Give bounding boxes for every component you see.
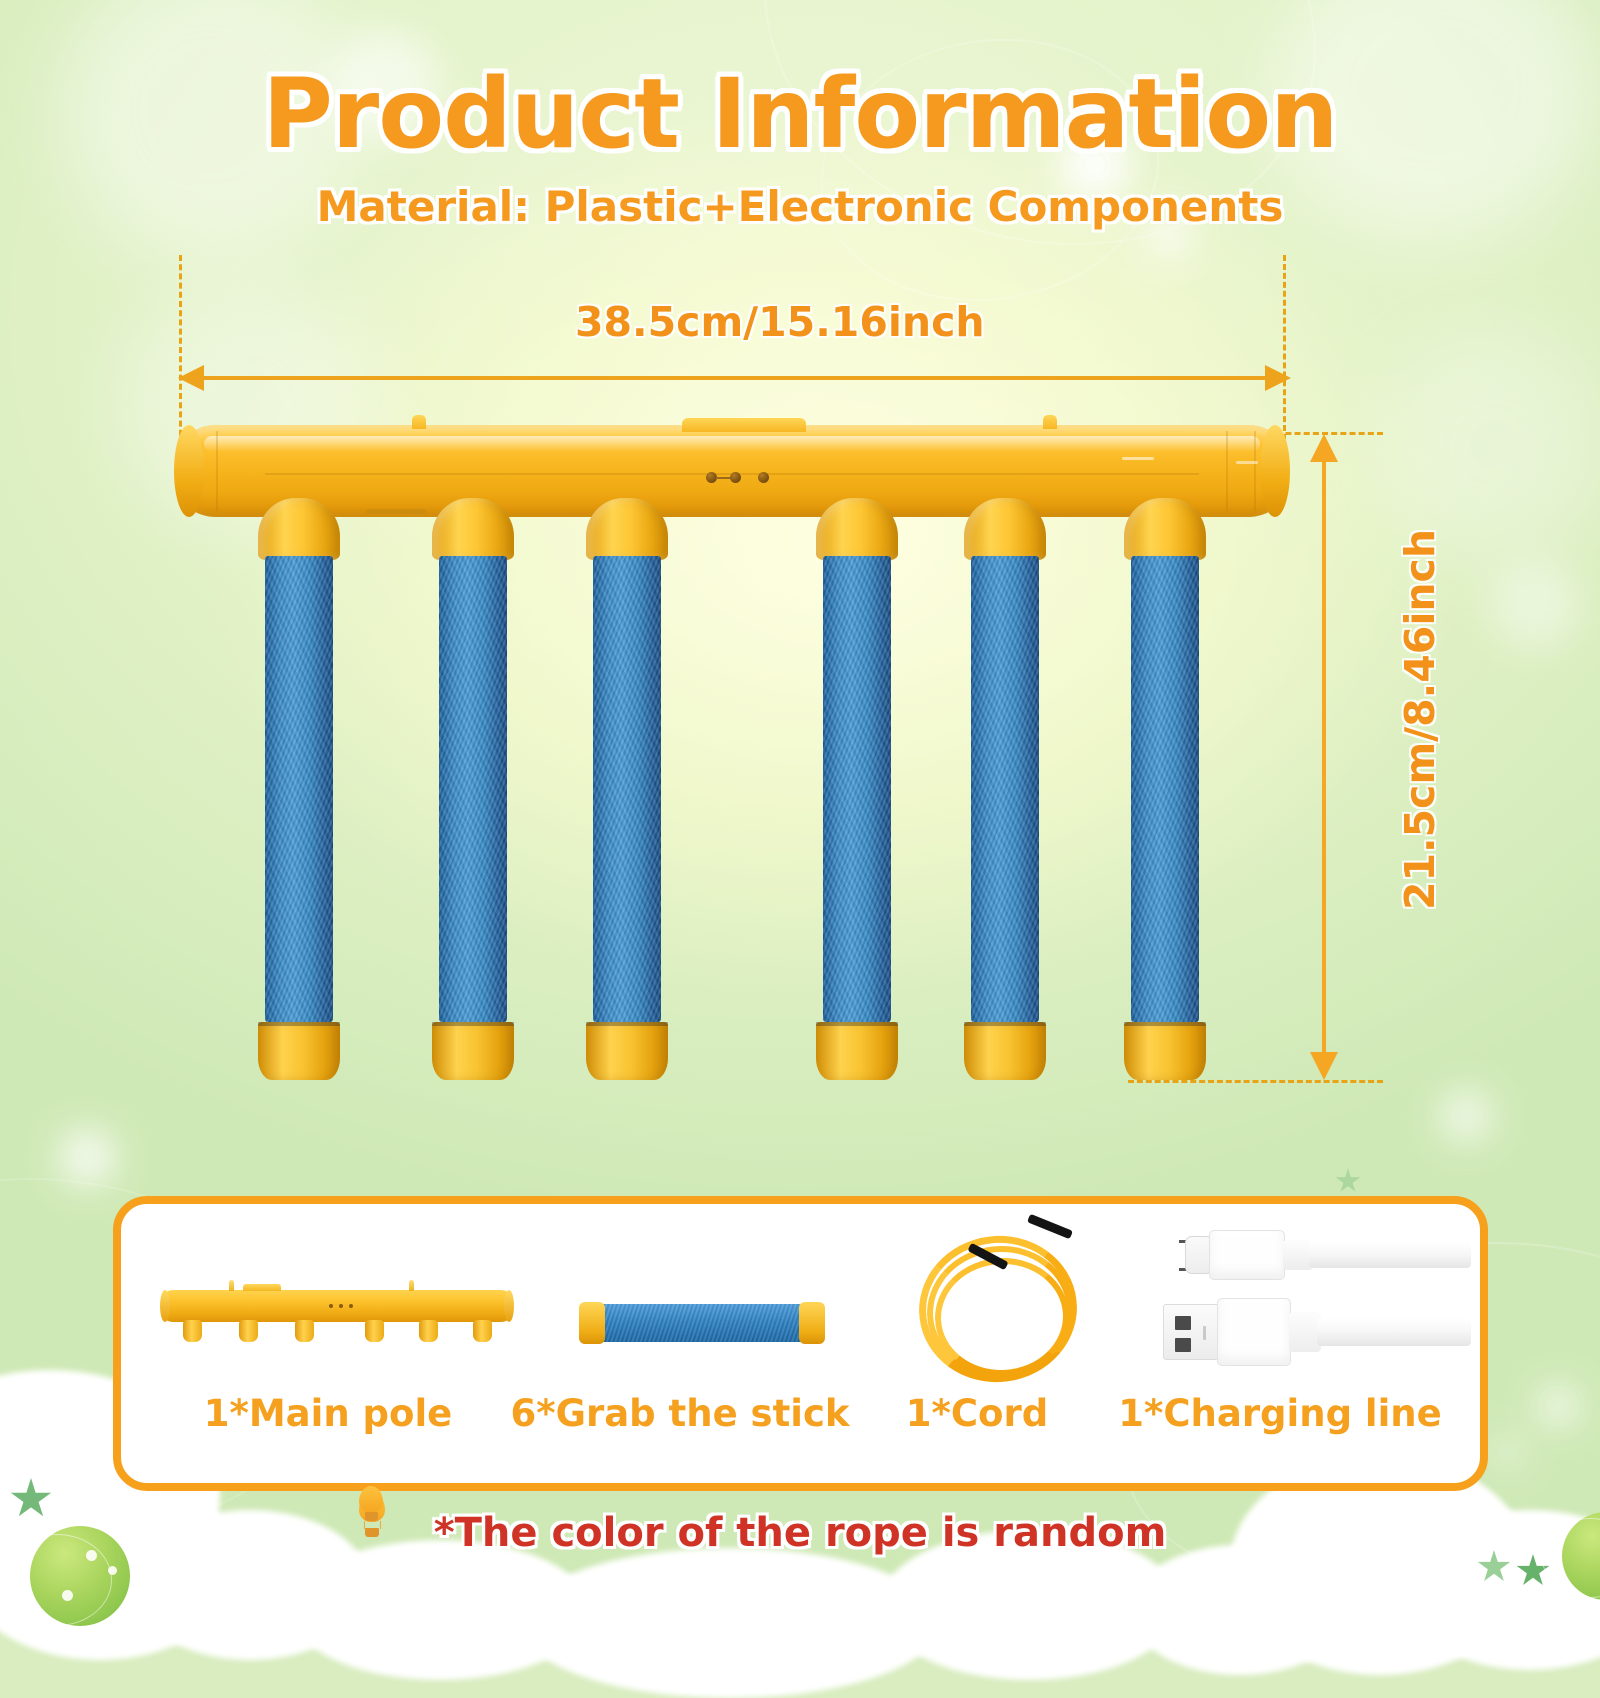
package-item-main-pole (151, 1254, 511, 1374)
pole-slot (1236, 461, 1258, 464)
stick-foam-body (265, 556, 333, 1022)
package-item-label: 1*Cord (906, 1392, 1048, 1435)
pole-highlight (204, 436, 1260, 452)
height-measure-line (1322, 446, 1326, 1068)
product-photo (0, 0, 1600, 1160)
pole-peak (412, 415, 426, 429)
arrow-up-icon (1310, 434, 1338, 462)
cloud-shape (1130, 1545, 1350, 1675)
stick-top-cap (258, 498, 340, 560)
pole-slot (1122, 457, 1154, 460)
package-item-label: 1*Main pole (204, 1392, 452, 1435)
grab-stick (258, 498, 340, 1080)
pole-socket (419, 1320, 438, 1342)
package-contents-panel (113, 1196, 1488, 1491)
width-measure-line (190, 376, 1283, 380)
grab-stick (432, 498, 514, 1080)
arrow-right-icon (1265, 365, 1291, 391)
pole-center-plate (682, 418, 806, 432)
cloud-shape (520, 1548, 940, 1698)
package-item-charging-line (1141, 1212, 1471, 1392)
package-item-cord (881, 1214, 1111, 1394)
pole-seam (1254, 431, 1256, 511)
package-item-label: 6*Grab the stick (511, 1392, 850, 1435)
arrow-down-icon (1310, 1052, 1338, 1080)
pole-socket (473, 1320, 492, 1342)
footer-note: *The color of the rope is random (0, 1510, 1600, 1556)
pole-socket (295, 1320, 314, 1342)
pole-socket (183, 1320, 202, 1342)
pole-end-cap-left (174, 425, 204, 517)
main-pole-body (176, 425, 1288, 517)
pole-socket (239, 1320, 258, 1342)
height-dimension-label: 21.5cm/8.46inch (1396, 529, 1444, 910)
stick-bottom-cap (258, 1022, 340, 1080)
width-dimension-label: 38.5cm/15.16inch (575, 298, 985, 346)
grab-stick (964, 498, 1046, 1080)
package-item-grab-stick (571, 1264, 836, 1354)
arrow-left-icon (178, 365, 204, 391)
package-item-label: 1*Charging line (1118, 1392, 1441, 1435)
pole-slot (366, 509, 426, 514)
pole-end-cap-right (1260, 425, 1290, 517)
pole-seam (216, 431, 218, 511)
grab-stick (1124, 498, 1206, 1080)
main-pole-icon (161, 1290, 513, 1322)
pole-socket (365, 1320, 384, 1342)
grab-stick (586, 498, 668, 1080)
pole-peak (1043, 415, 1057, 429)
grab-stick (816, 498, 898, 1080)
pole-seam (1226, 431, 1228, 511)
